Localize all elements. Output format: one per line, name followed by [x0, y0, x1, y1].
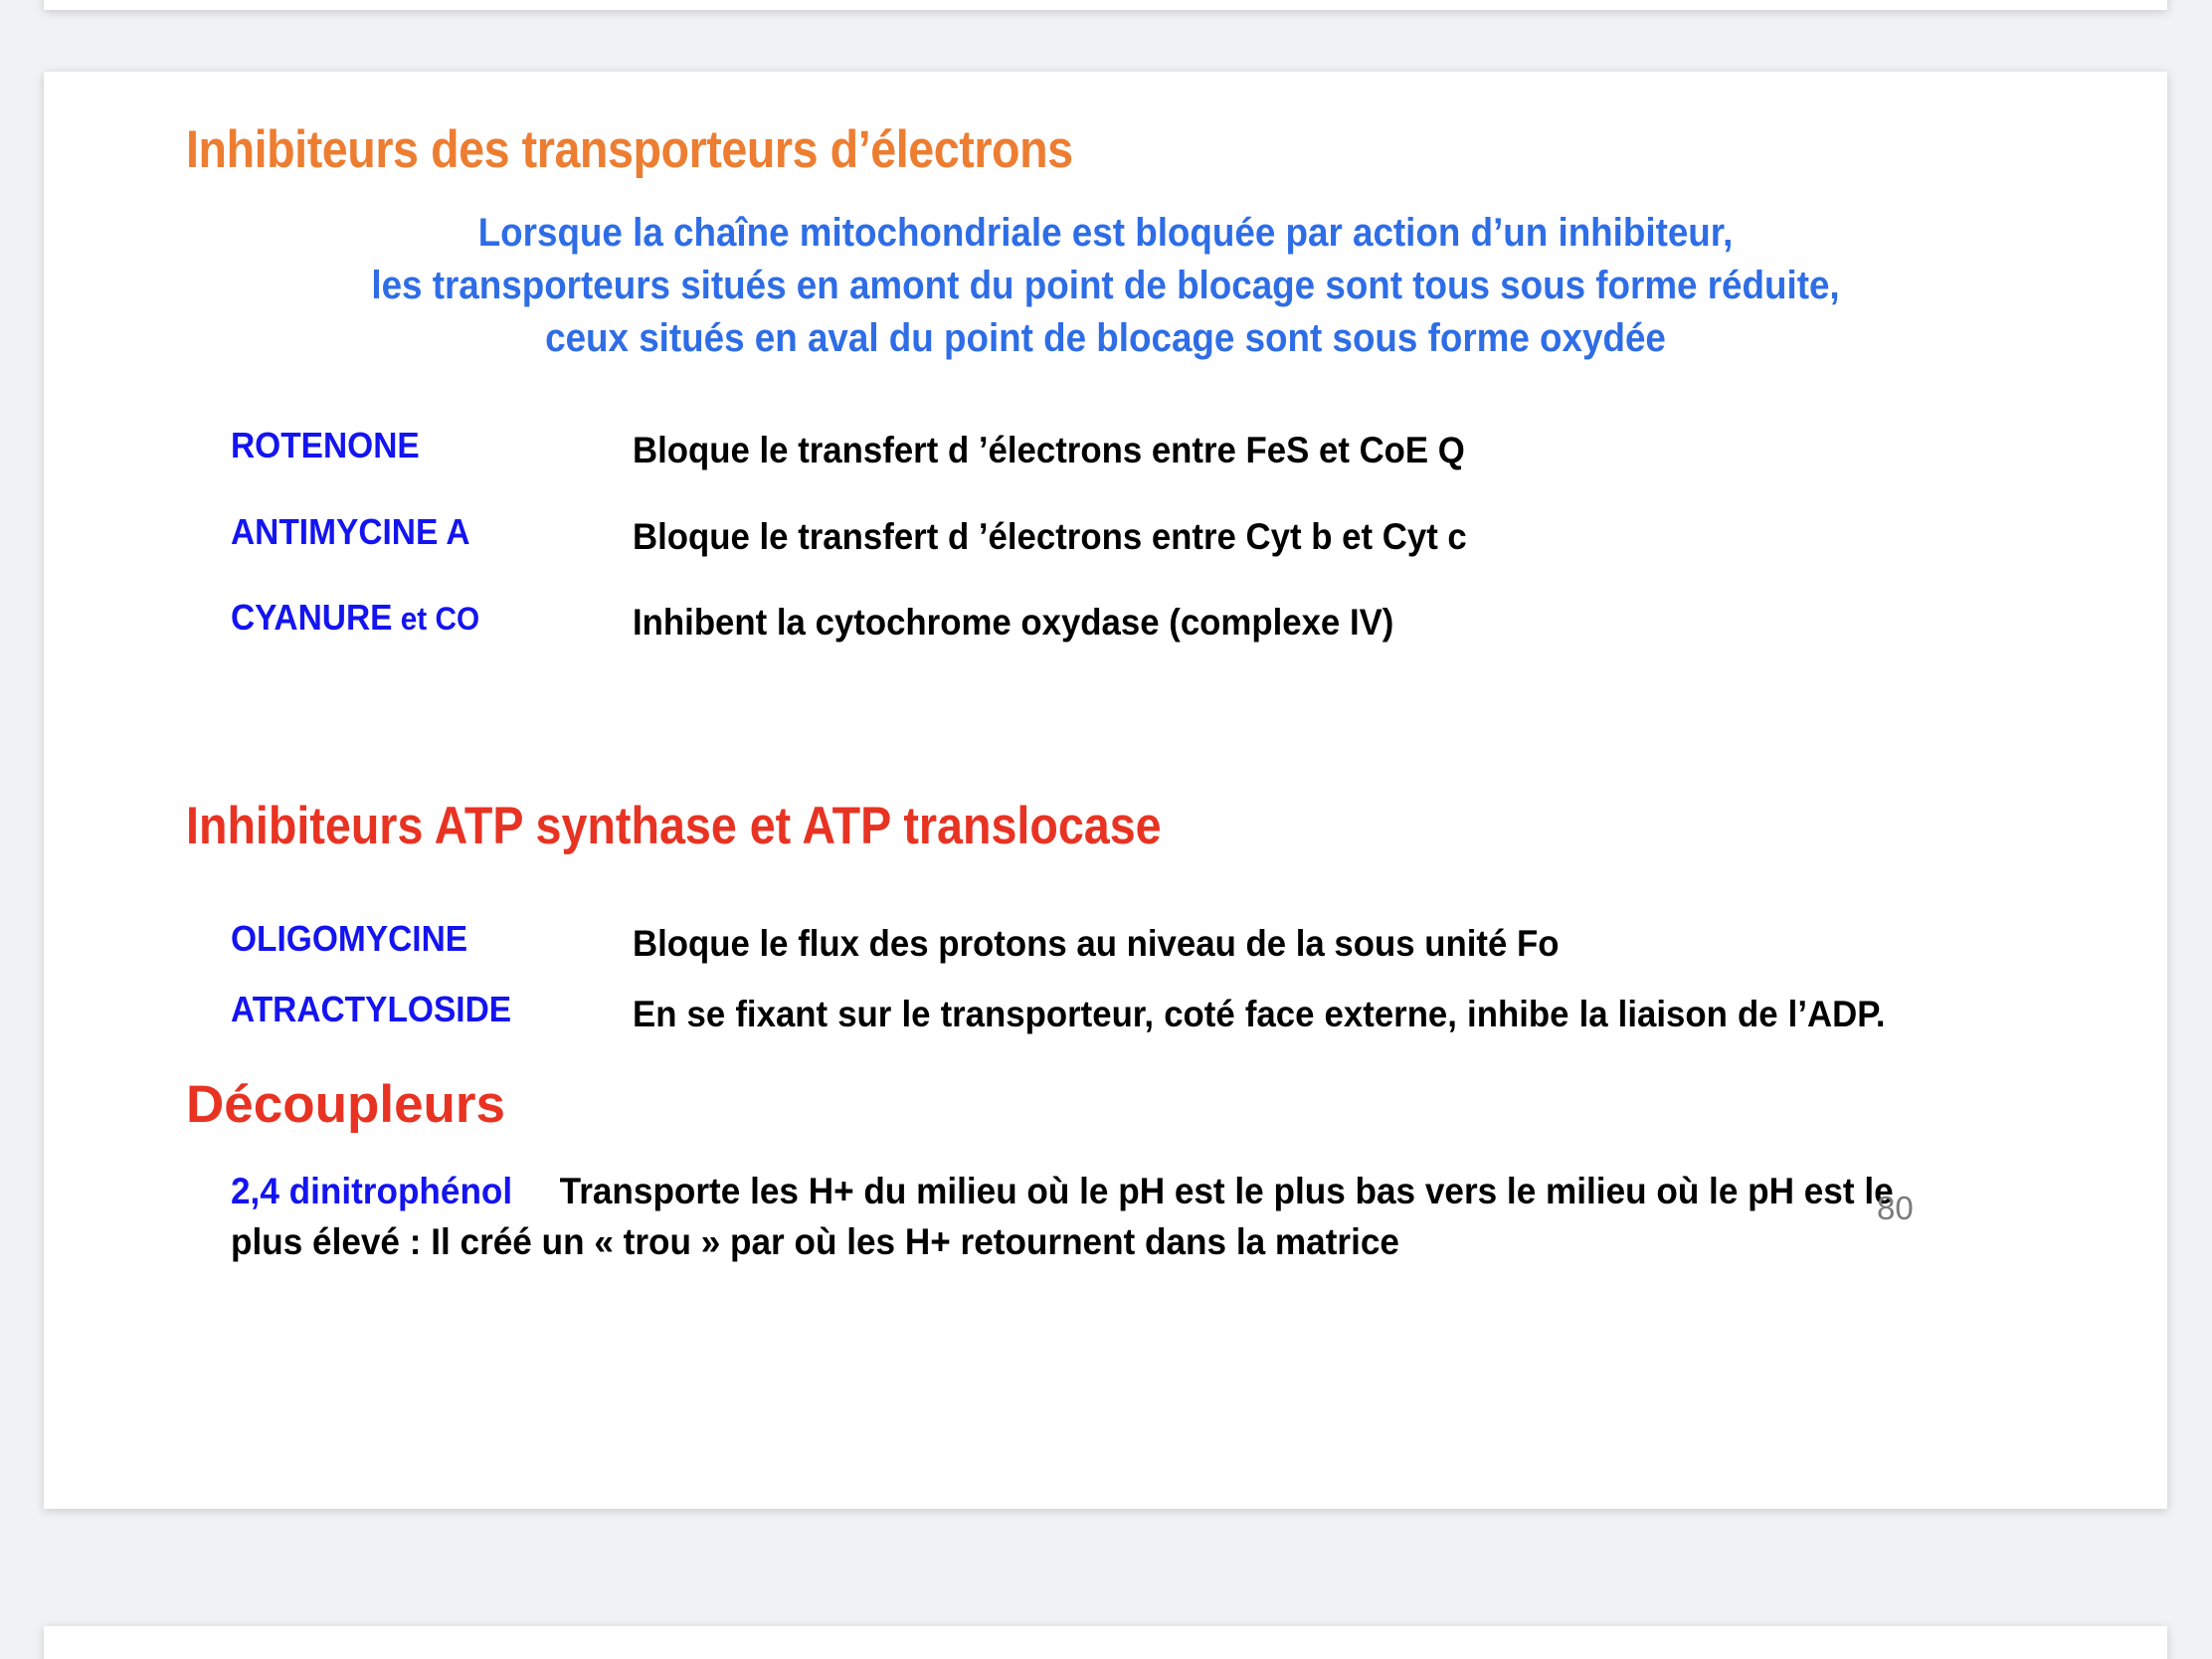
subtitle-line-1: Lorsque la chaîne mitochondriale est blo…: [128, 207, 2082, 260]
slide-page-number: 80: [1877, 1190, 1914, 1227]
page-title: Inhibiteurs des transporteurs d’électron…: [186, 119, 1073, 180]
current-page-card: Inhibiteurs des transporteurs d’électron…: [44, 72, 2167, 1509]
section-heading-decouplers: Découpleurs: [186, 1074, 505, 1135]
previous-page-card: [44, 0, 2167, 10]
inhibitor-description: En se fixant sur le transporteur, coté f…: [633, 989, 1886, 1090]
inhibitor-description: Bloque le flux des protons au niveau de …: [633, 918, 1886, 969]
subtitle-line-3: ceux situés en aval du point de blocage …: [128, 312, 2082, 365]
decoupler-entry: 2,4 dinitrophénolTransporte les H+ du mi…: [231, 1166, 1894, 1267]
section-heading-atp: Inhibiteurs ATP synthase et ATP transloc…: [186, 796, 1162, 856]
slide-content: Inhibiteurs des transporteurs d’électron…: [44, 72, 2167, 1509]
inhibitor-description: Bloque le transfert d ’électrons entre F…: [633, 425, 1886, 475]
inhibitor-name: ROTENONE: [231, 425, 420, 466]
subtitle-line-2: les transporteurs situés en amont du poi…: [128, 260, 2082, 312]
subtitle-paragraph: Lorsque la chaîne mitochondriale est blo…: [44, 207, 2167, 365]
decoupler-name: 2,4 dinitrophénol: [231, 1171, 512, 1211]
next-page-card: [44, 1626, 2167, 1659]
inhibitor-name: CYANURE et CO: [231, 597, 479, 639]
inhibitor-name: ANTIMYCINE A: [231, 511, 470, 553]
inhibitor-name: OLIGOMYCINE: [231, 918, 467, 960]
inhibitor-description: Bloque le transfert d ’électrons entre C…: [633, 511, 1886, 562]
inhibitor-name: ATRACTYLOSIDE: [231, 989, 511, 1030]
document-viewer[interactable]: Inhibiteurs des transporteurs d’électron…: [0, 0, 2212, 1659]
inhibitor-description: Inhibent la cytochrome oxydase (complexe…: [633, 597, 1886, 647]
